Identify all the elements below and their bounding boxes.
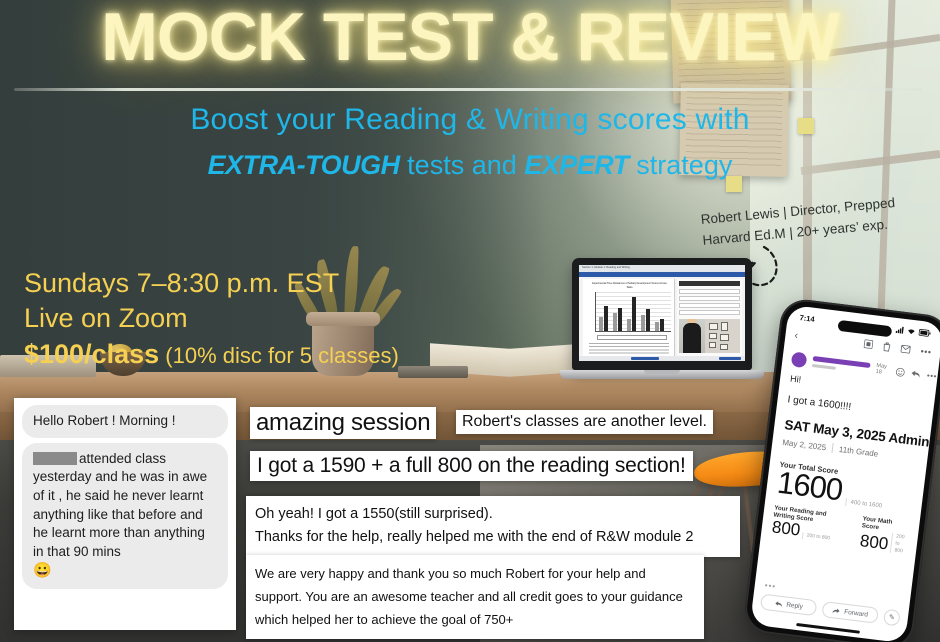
forward-button[interactable]: Forward (821, 601, 879, 624)
testimonial-quote-3: I got a 1590 + a full 800 on the reading… (250, 451, 693, 481)
schedule-platform: Live on Zoom (24, 301, 444, 336)
laptop-mockup: Section 1, Module 1: Reading and Writing… (572, 258, 752, 386)
chart-legend (597, 335, 667, 340)
review-panel (677, 279, 742, 356)
reply-button[interactable]: Reply (760, 594, 818, 617)
subtitle-post-text: strategy (629, 150, 733, 180)
browser-url-bar (579, 272, 745, 277)
laptop-screen: Section 1, Module 1: Reading and Writing… (579, 265, 745, 361)
avatar (791, 351, 808, 368)
forward-arrow-icon (832, 607, 841, 615)
math-score-value: 800 (859, 532, 889, 552)
review-panel-header (679, 281, 740, 286)
schedule-time: Sundays 7–8:30 p.m. EST (24, 266, 444, 301)
message-more-icon[interactable]: ••• (927, 371, 938, 381)
total-score-value: 1600 (776, 467, 844, 506)
test-footer (579, 356, 745, 361)
phone-screen: 7:14 ‹ ••• (750, 305, 940, 642)
report-grade: 11th Grade (838, 444, 878, 458)
message-text: I got a 1600!!!! (787, 394, 923, 421)
reply-icon[interactable] (911, 369, 922, 379)
quote-4-line-2: Thanks for the help, really helped me wi… (255, 526, 731, 549)
laptop-base-notch (644, 370, 680, 374)
testimonial-quote-5: We are very happy and thank you so much … (246, 555, 704, 639)
phone-action-bar: Reply Forward ✎ (760, 594, 901, 627)
home-indicator (796, 623, 860, 634)
subscore-row: Your Reading and Writing Score 800 200 t… (771, 504, 910, 555)
chart-title: Experimental Time Allowances of Solitary… (589, 282, 670, 289)
wifi-icon (907, 327, 917, 335)
expand-quoted-text-icon[interactable]: ••• (764, 581, 776, 591)
test-passage-panel: Experimental Time Allowances of Solitary… (583, 279, 675, 356)
emphasis-extra-tough: EXTRA-TOUGH (208, 150, 400, 180)
browser-tab-title: Section 1, Module 1: Reading and Writing (582, 266, 630, 269)
answer-option[interactable] (679, 296, 740, 301)
quote-4-line-1: Oh yeah! I got a 1550(still surprised). (255, 503, 731, 526)
smile-emoji-icon: 😀 (33, 562, 52, 579)
more-options-icon[interactable]: ••• (920, 346, 932, 357)
math-score-range: 200 to 800 (890, 533, 908, 555)
phone-message-body: Hi! I got a 1600!!!! SAT May 3, 2025 Adm… (771, 373, 926, 555)
reading-writing-score-block: Your Reading and Writing Score 800 200 t… (771, 504, 850, 547)
total-score-range: 400 to 1600 (845, 498, 882, 511)
emoji-react-icon[interactable] (896, 367, 906, 377)
answer-option[interactable] (679, 303, 740, 308)
rw-score-range: 200 to 800 (802, 532, 830, 542)
subtitle-line-1: Boost your Reading & Writing scores with (0, 103, 940, 137)
testimonial-quote-1: amazing session (250, 407, 436, 439)
report-date: May 2, 2025 (782, 437, 827, 451)
battery-icon (918, 328, 931, 336)
chat-message-text: attended class yesterday and he was in a… (33, 451, 207, 559)
redacted-name (33, 452, 77, 465)
rw-score-value: 800 (771, 518, 801, 538)
compose-fab-icon[interactable]: ✎ (883, 609, 901, 627)
forward-button-label: Forward (844, 608, 869, 618)
message-date: May 18 (875, 363, 887, 376)
page-title: MOCK TEST & REVIEW (0, 2, 940, 73)
bar-chart (595, 292, 671, 332)
chat-testimonial-card: Hello Robert ! Morning ! attended class … (14, 398, 236, 630)
subtitle-line-2: EXTRA-TOUGH tests and EXPERT strategy (0, 150, 940, 181)
signal-icon (896, 325, 905, 333)
poster-canvas: MOCK TEST & REVIEW Boost your Reading & … (0, 0, 940, 642)
header-divider (14, 88, 922, 91)
back-icon[interactable]: ‹ (794, 329, 799, 341)
reply-arrow-icon (774, 600, 783, 608)
answer-option[interactable] (679, 289, 740, 294)
answer-option[interactable] (679, 310, 740, 315)
math-score-block: Your Math Score 800 200 to 800 (859, 515, 910, 555)
meta-separator (831, 443, 833, 453)
status-time: 7:14 (799, 313, 815, 324)
mail-icon[interactable] (900, 344, 911, 353)
testimonial-quote-2: Robert's classes are another level. (456, 410, 713, 434)
instructor-video (679, 319, 740, 353)
browser-chrome: Section 1, Module 1: Reading and Writing (579, 265, 745, 272)
pricing-line: $100/class (10% disc for 5 classes) (24, 337, 444, 372)
chat-bubble-message: attended class yesterday and he was in a… (22, 443, 228, 589)
chat-bubble-greeting: Hello Robert ! Morning ! (22, 405, 228, 438)
archive-icon[interactable] (864, 339, 874, 349)
schedule-block: Sundays 7–8:30 p.m. EST Live on Zoom $10… (24, 266, 444, 372)
subtitle-mid-text: tests and (400, 150, 525, 180)
sender-recipient-redacted (812, 363, 836, 369)
delete-icon[interactable] (882, 341, 891, 352)
laptop-body: Section 1, Module 1: Reading and Writing… (572, 258, 752, 370)
reply-button-label: Reply (786, 601, 803, 610)
testimonial-quote-4: Oh yeah! I got a 1550(still surprised). … (246, 496, 740, 557)
discount-note: (10% disc for 5 classes) (165, 343, 399, 368)
emphasis-expert: EXPERT (524, 150, 629, 180)
price-value: $100/class (24, 339, 159, 369)
